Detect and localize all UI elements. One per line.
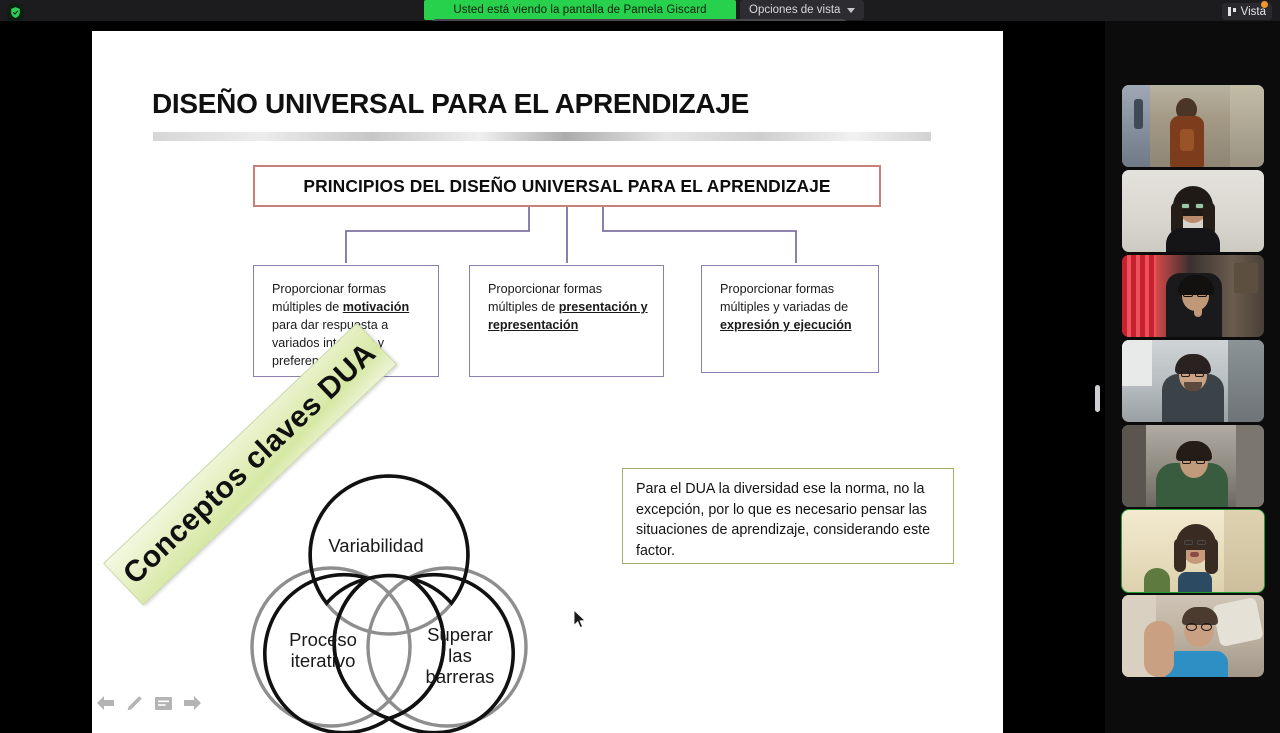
diagram-connectors (253, 207, 893, 267)
principles-header-text: PRINCIPIOS DEL DISEÑO UNIVERSAL PARA EL … (303, 176, 830, 197)
principles-header-box: PRINCIPIOS DEL DISEÑO UNIVERSAL PARA EL … (253, 165, 881, 207)
panel-resize-handle[interactable] (1095, 385, 1100, 412)
vista-button[interactable]: Vista (1222, 3, 1272, 20)
principle-box-2: Proporcionar formas múltiples de present… (469, 265, 664, 377)
screen-share-notice: Usted está viendo la pantalla de Pamela … (424, 0, 736, 20)
annotate-button[interactable] (124, 693, 144, 713)
participant-tile-2[interactable] (1122, 170, 1264, 252)
participant-tile-7[interactable] (1122, 595, 1264, 677)
venn-label-1: Variabilidad (291, 535, 461, 556)
principle-text-2: Proporcionar formas múltiples de present… (488, 280, 652, 334)
participant-tile-1[interactable] (1122, 85, 1264, 167)
shield-check-icon[interactable] (7, 4, 24, 21)
meeting-top-bar: Usted está viendo la pantalla de Pamela … (0, 0, 1280, 21)
layout-grid-icon (1228, 7, 1236, 16)
presentation-slide: DISEÑO UNIVERSAL PARA EL APRENDIZAJE PRI… (92, 31, 1003, 733)
participant-tile-3[interactable] (1122, 255, 1264, 337)
previous-slide-button[interactable] (95, 693, 115, 713)
slide-title: DISEÑO UNIVERSAL PARA EL APRENDIZAJE (152, 88, 749, 120)
screen-root: Usted está viendo la pantalla de Pamela … (0, 0, 1280, 733)
chevron-down-icon (847, 8, 855, 13)
screen-share-notice-text: Usted está viendo la pantalla de Pamela … (453, 4, 706, 16)
slide-navigation-toolbar[interactable] (95, 693, 202, 713)
title-divider (153, 132, 931, 141)
diversity-note-box: Para el DUA la diversidad ese la norma, … (622, 468, 954, 564)
view-options-dropdown[interactable]: Opciones de vista (740, 0, 864, 20)
mouse-cursor (573, 609, 587, 629)
shared-screen-stage[interactable]: DISEÑO UNIVERSAL PARA EL APRENDIZAJE PRI… (0, 21, 1105, 733)
venn-diagram: Variabilidad Proceso iterativo Superar l… (247, 471, 532, 733)
venn-label-2: Proceso iterativo (253, 629, 393, 671)
participant-video-rail[interactable] (1105, 21, 1280, 733)
view-options-label: Opciones de vista (749, 4, 840, 16)
slide-notes-button[interactable] (153, 693, 173, 713)
notification-badge (1261, 1, 1268, 8)
participant-tile-6[interactable] (1122, 510, 1264, 592)
participant-tile-5[interactable] (1122, 425, 1264, 507)
participant-tile-4[interactable] (1122, 340, 1264, 422)
principle-text-3: Proporcionar formas múltiples y variadas… (720, 280, 867, 334)
diversity-note-text: Para el DUA la diversidad ese la norma, … (636, 479, 940, 562)
venn-label-3: Superar las barreras (395, 624, 525, 687)
principle-box-3: Proporcionar formas múltiples y variadas… (701, 265, 879, 373)
next-slide-button[interactable] (182, 693, 202, 713)
